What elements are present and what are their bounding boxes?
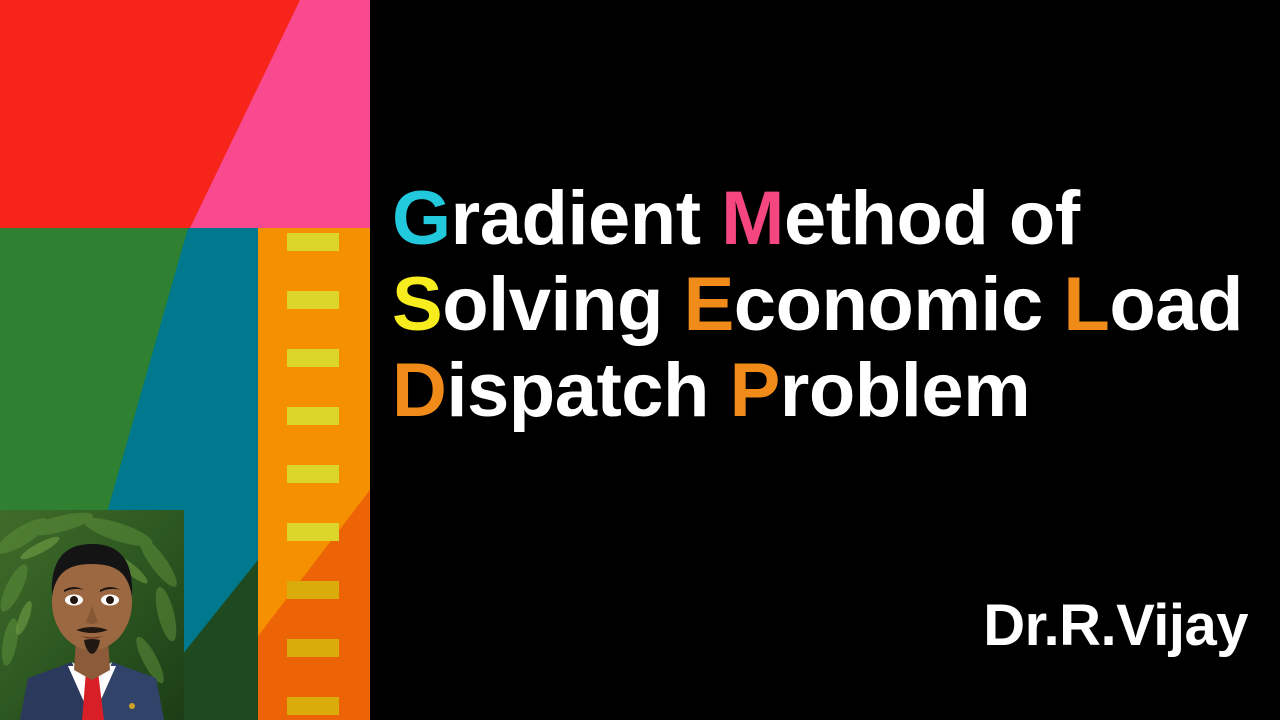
title-line-2: Solving Economic Load	[392, 262, 1272, 348]
title-text-2a: olving	[442, 262, 683, 347]
dash-6	[287, 523, 339, 541]
title-accent-l: L	[1063, 262, 1109, 347]
title-accent-e: E	[684, 262, 734, 347]
title-line-3: Dispatch Problem	[392, 348, 1272, 434]
title-text-1a: radient	[451, 176, 722, 261]
title-line-1: Gradient Method of	[392, 176, 1272, 262]
title-accent-g: G	[392, 176, 451, 261]
dash-4	[287, 407, 339, 425]
title-text-2c: oad	[1109, 262, 1243, 347]
dash-7	[287, 581, 339, 599]
title-accent-p: P	[730, 348, 780, 433]
title-accent-d: D	[392, 348, 446, 433]
presenter-name: Dr.R.Vijay	[983, 594, 1248, 658]
title-accent-m: M	[721, 176, 784, 261]
title-text-3b: roblem	[780, 348, 1030, 433]
title-text-2b: conomic	[734, 262, 1064, 347]
page-title: Gradient Method of Solving Economic Load…	[392, 176, 1272, 434]
dash-2	[287, 291, 339, 309]
title-accent-s: S	[392, 262, 442, 347]
dash-9	[287, 697, 339, 715]
pupil-right	[106, 596, 114, 604]
title-slide: Gradient Method of Solving Economic Load…	[0, 0, 1280, 720]
speaker-portrait-illustration	[0, 510, 184, 720]
dash-5	[287, 465, 339, 483]
pupil-left	[70, 596, 78, 604]
speaker-photo	[0, 510, 184, 720]
dash-3	[287, 349, 339, 367]
title-text-1b: ethod of	[784, 176, 1080, 261]
lapel-pin	[129, 703, 135, 709]
dash-1	[287, 233, 339, 251]
title-text-3a: ispatch	[446, 348, 729, 433]
dash-8	[287, 639, 339, 657]
